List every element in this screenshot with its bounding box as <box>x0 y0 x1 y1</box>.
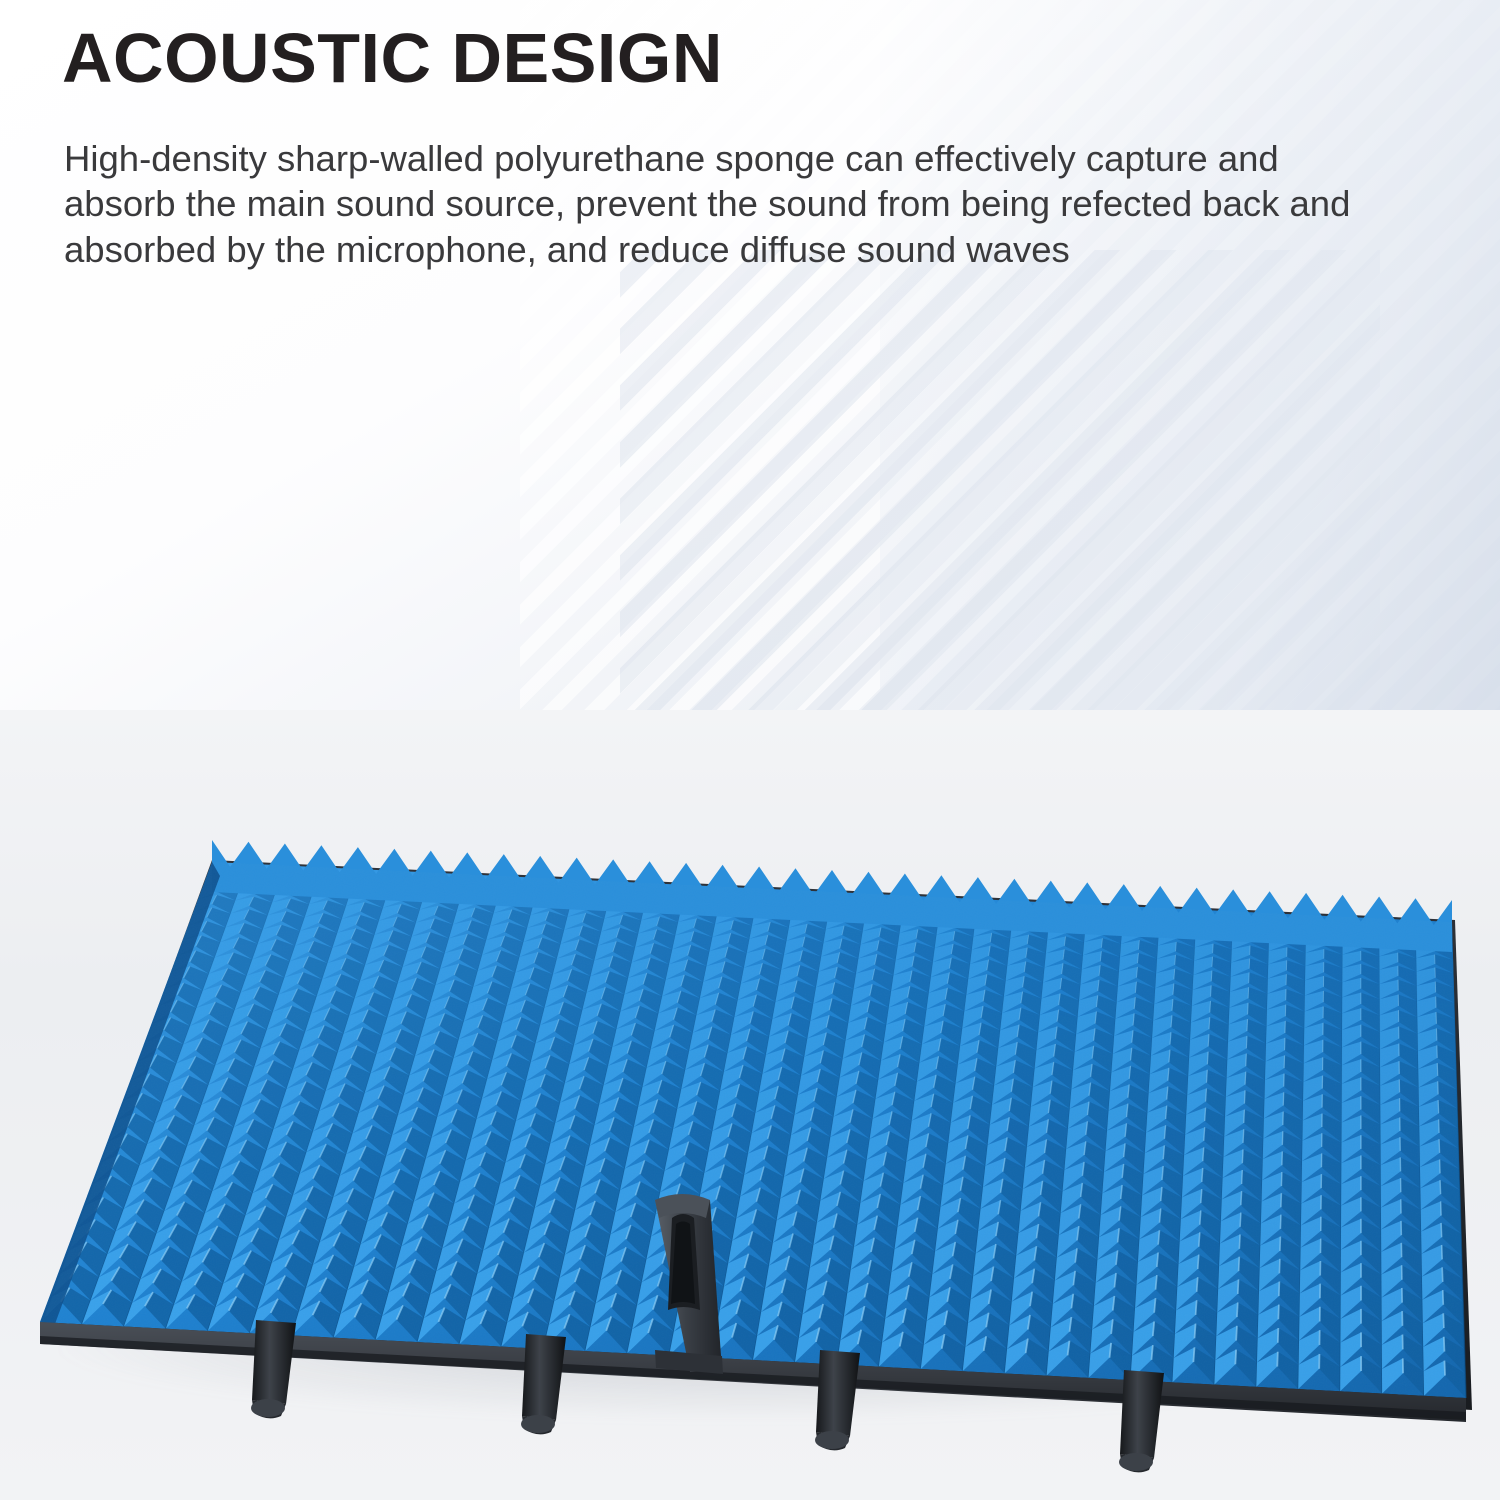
mic-stand-leg-2 <box>521 1334 566 1434</box>
acoustic-foam-product <box>0 710 1500 1500</box>
page-title: ACOUSTIC DESIGN <box>62 22 723 96</box>
mic-stand-leg-3 <box>815 1350 860 1450</box>
mic-stand-leg-1 <box>251 1320 296 1418</box>
diagonal-stripes-decoration <box>520 0 1500 710</box>
product-feature-page: ACOUSTIC DESIGN High-density sharp-walle… <box>0 0 1500 1500</box>
metal-mounting-clip <box>655 1194 723 1374</box>
mic-stand-legs-group <box>0 710 1500 1500</box>
product-image-panel <box>0 710 1500 1500</box>
header-gradient-overlay <box>880 0 1500 710</box>
page-description: High-density sharp-walled polyurethane s… <box>64 136 1394 272</box>
diagonal-stripes-decoration-secondary <box>620 250 1380 710</box>
header-panel: ACOUSTIC DESIGN High-density sharp-walle… <box>0 0 1500 710</box>
mic-stand-leg-4 <box>1119 1370 1164 1472</box>
